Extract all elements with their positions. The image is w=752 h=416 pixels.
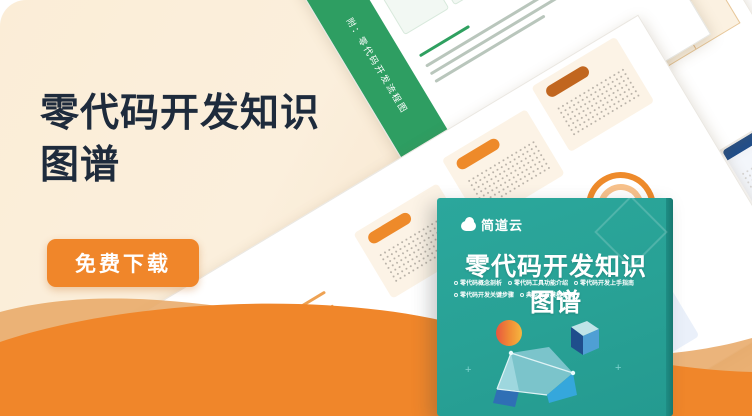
brand-logo: 简道云	[461, 215, 523, 234]
bullet-marker-icon	[574, 281, 578, 285]
poster-teal-edge	[108, 326, 296, 416]
sun-circle-icon	[496, 320, 522, 346]
free-download-button[interactable]: 免费下载	[47, 239, 199, 287]
plus-accent-icon: +	[615, 362, 621, 374]
book-bullet-item: 零代码概念剖析	[454, 278, 502, 287]
poster-accent-band	[453, 0, 713, 80]
bullet-marker-icon	[508, 281, 512, 285]
page-title: 零代码开发知识 图谱	[40, 88, 370, 193]
book-geometric-artwork: + +	[437, 311, 673, 416]
bullet-marker-icon	[454, 281, 458, 285]
book-bullet-list: 零代码概念剖析 零代码工具功能介绍 零代码开发上手指南 零代码开发关键步骤 典型…	[454, 278, 660, 299]
plus-accent-icon: +	[465, 364, 471, 376]
cloud-icon	[461, 217, 476, 232]
promo-banner: 附：零代码开发流程图	[0, 0, 752, 416]
brand-name: 简道云	[481, 215, 523, 234]
book-bullet-item: 典型场景模板框架	[520, 290, 574, 299]
book-bullet-label: 零代码工具功能介绍	[514, 278, 568, 287]
book-bullet-item: 零代码开发关键步骤	[454, 290, 514, 299]
book-bullet-label: 零代码概念剖析	[460, 278, 502, 287]
book-bullet-label: 零代码开发上手指南	[580, 278, 634, 287]
book-bullet-item: 零代码工具功能介绍	[508, 278, 568, 287]
polygon-cluster-icon	[493, 347, 577, 407]
cube-icon	[571, 321, 599, 355]
book-bullet-label: 零代码开发关键步骤	[460, 290, 514, 299]
ebook-cover: 简道云 零代码开发知识图谱 零代码概念剖析 零代码工具功能介绍 零代码开发上手指…	[437, 198, 673, 416]
bullet-marker-icon	[454, 293, 458, 297]
bullet-marker-icon	[520, 293, 524, 297]
book-bullet-item: 零代码开发上手指南	[574, 278, 634, 287]
book-bullet-label: 典型场景模板框架	[526, 290, 574, 299]
